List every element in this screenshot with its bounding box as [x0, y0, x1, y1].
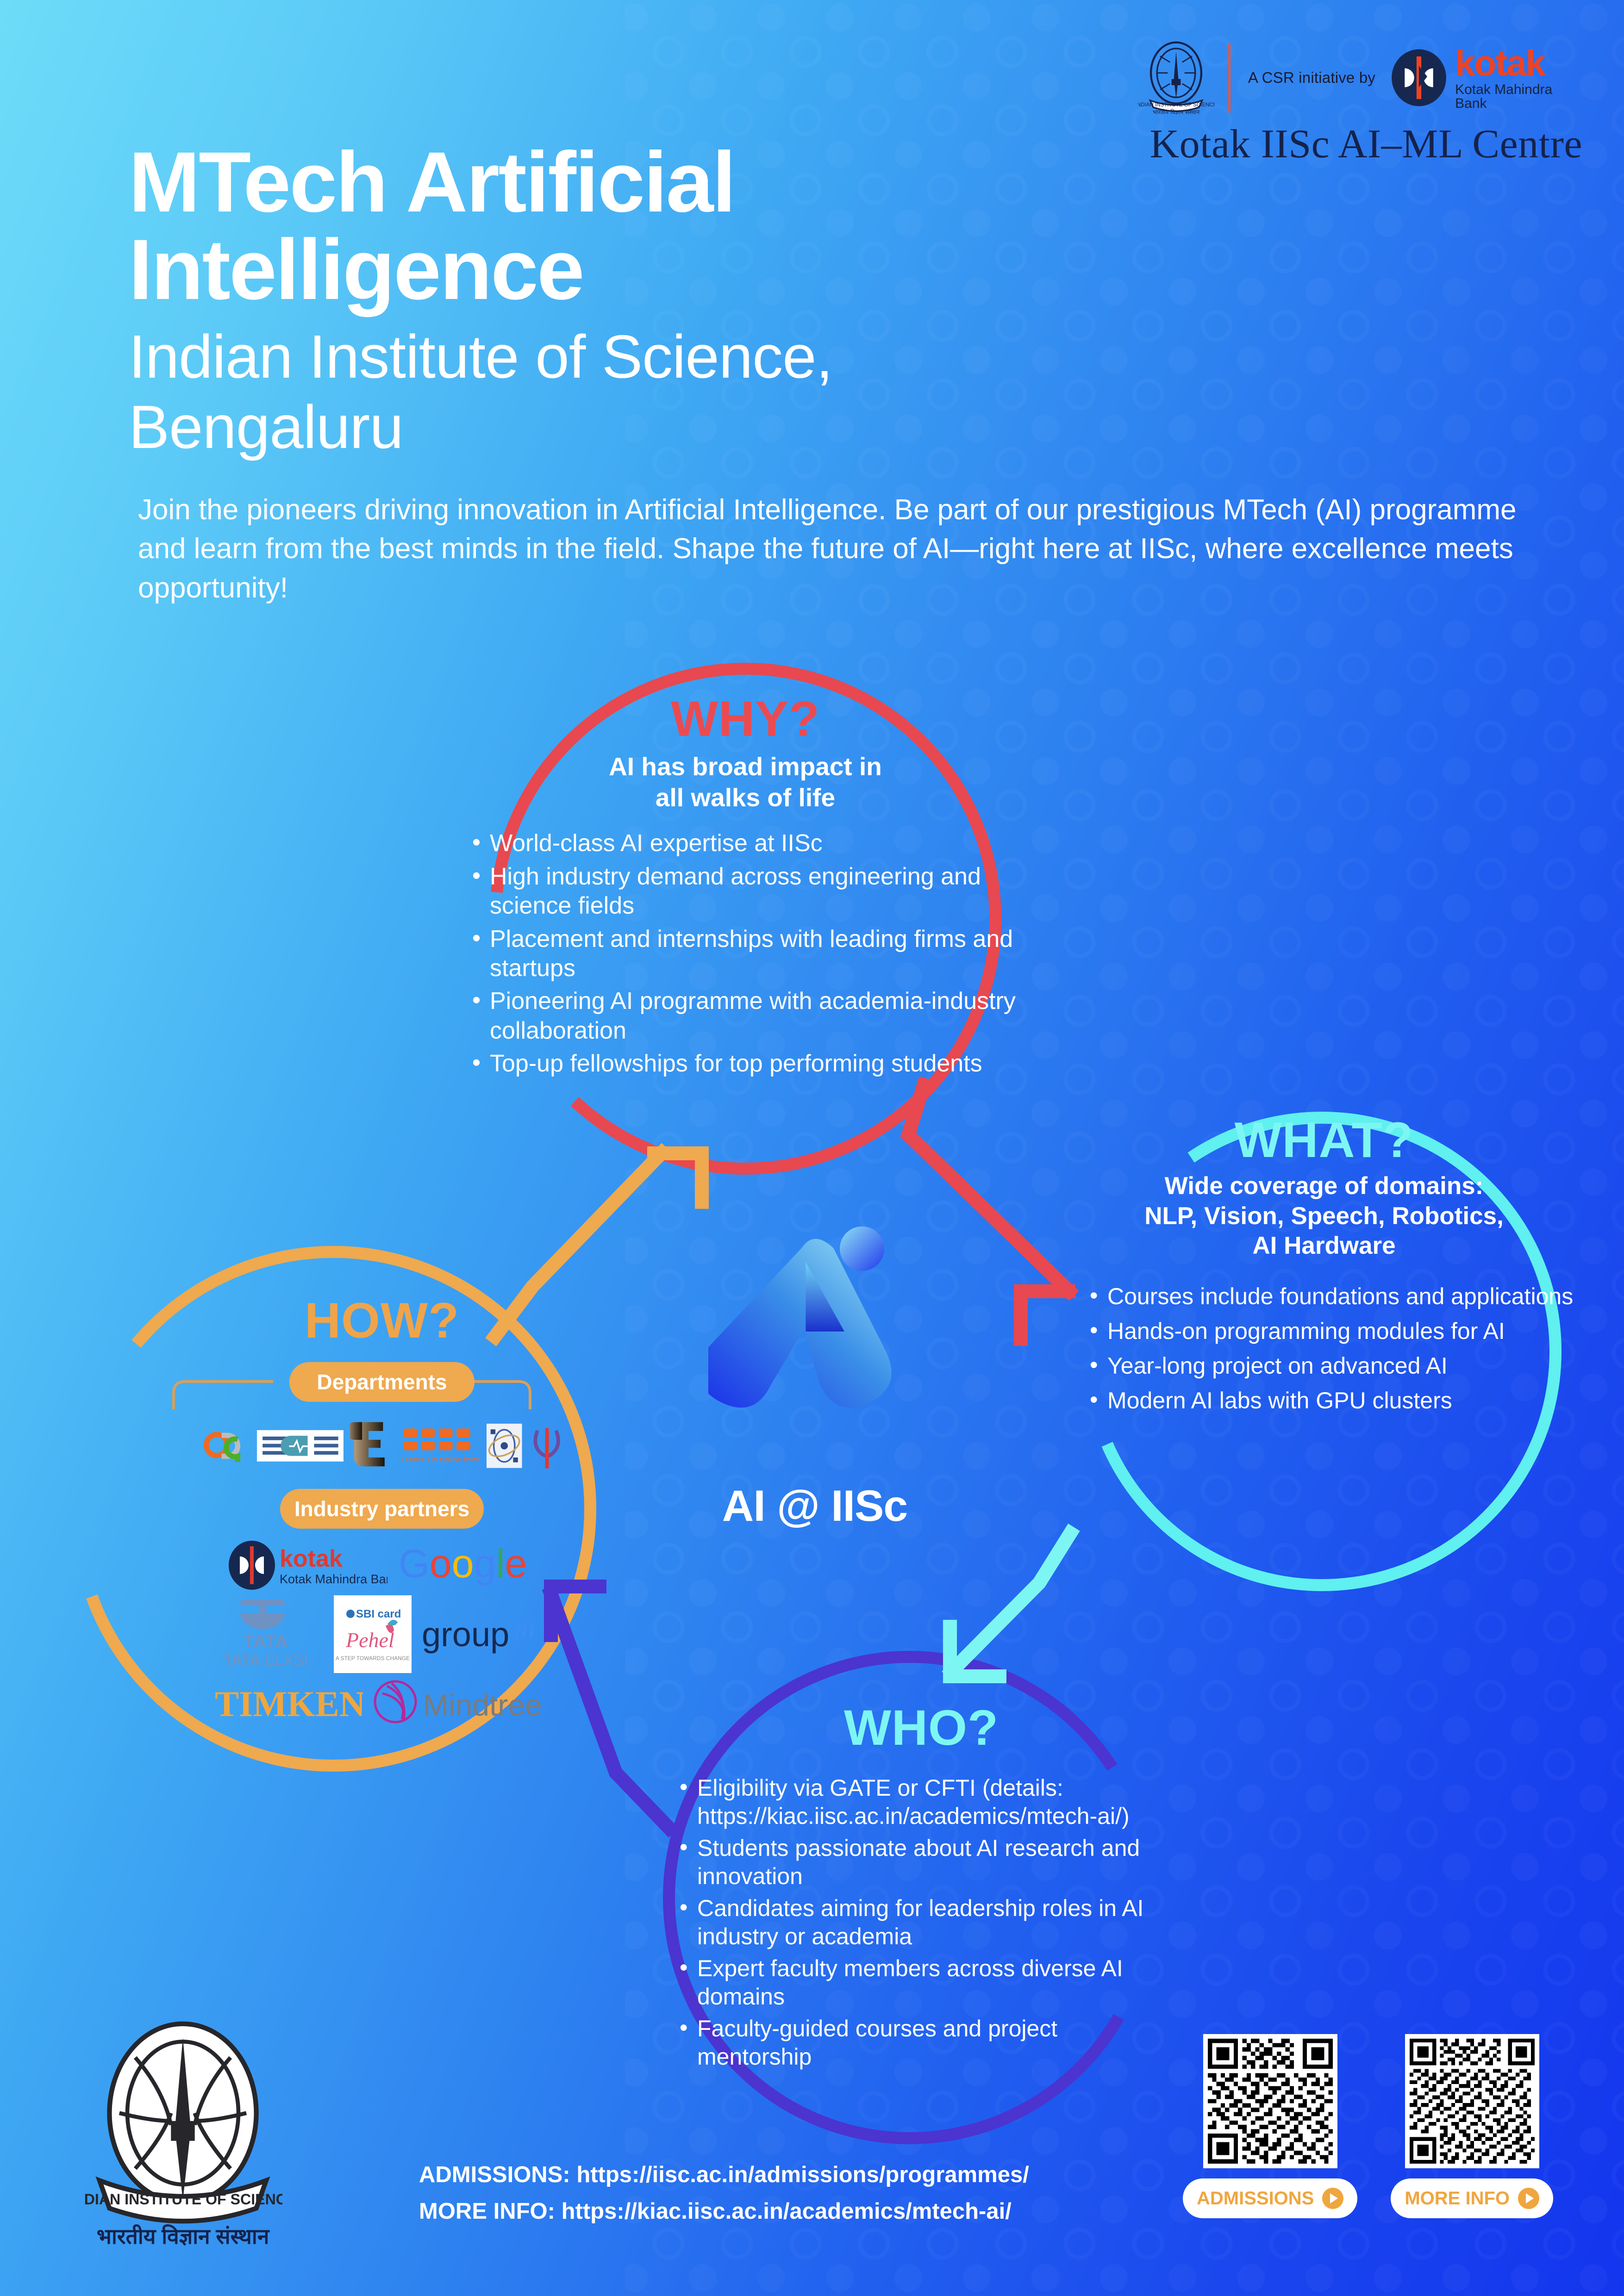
svg-text:A STEP TOWARDS CHANGE: A STEP TOWARDS CHANGE [336, 1655, 410, 1661]
timken-partner-logo-icon: TIMKEN [215, 1683, 363, 1724]
svg-text:TATA ELXSI: TATA ELXSI [223, 1651, 308, 1668]
list-item: Top-up fellowships for top performing st… [468, 1049, 1037, 1078]
list-item: Hands-on programming modules for AI [1085, 1317, 1574, 1345]
svg-text:TATA: TATA [243, 1631, 288, 1652]
kotak-badge-icon [1389, 48, 1449, 107]
title-block: MTech Artificial Intelligence Indian Ins… [129, 139, 1101, 462]
qr-code-more-info[interactable] [1405, 2034, 1539, 2168]
list-item: Candidates aiming for leadership roles i… [675, 1894, 1176, 1951]
play-arrow-icon [1322, 2188, 1343, 2209]
admissions-qr-button[interactable]: ADMISSIONS [1183, 2178, 1357, 2218]
svg-text:group: group [422, 1615, 509, 1654]
qr-code-area: ADMISSIONS [1183, 2034, 1553, 2218]
cds-department-logo-icon [487, 1420, 522, 1471]
what-subtitle: Wide coverage of domains: NLP, Vision, S… [1074, 1171, 1574, 1261]
list-item: Faculty-guided courses and project mento… [675, 2015, 1176, 2071]
list-item: Expert faculty members across diverse AI… [675, 1954, 1176, 2011]
departments-pill: Departments [289, 1362, 475, 1402]
more-info-link[interactable]: MORE INFO: https://kiac.iisc.ac.in/acade… [419, 2193, 1029, 2230]
admissions-url: https://iisc.ac.in/admissions/programmes… [576, 2162, 1029, 2187]
csr-initiative-text: A CSR initiative by [1248, 69, 1375, 87]
why-subtitle: AI has broad impact in all walks of life [454, 751, 1037, 813]
ee-department-logo-icon [350, 1416, 395, 1476]
section-why: WHY? AI has broad impact in all walks of… [454, 690, 1037, 1083]
iisc-seal-hindi-text: भारतीय विज्ञान संस्थान [69, 2221, 296, 2250]
list-item: Year-long project on advanced AI [1085, 1352, 1574, 1380]
svg-text:Mindtree: Mindtree [423, 1688, 542, 1722]
more-info-qr-button[interactable]: MORE INFO [1391, 2178, 1553, 2218]
kotak-subtitle: Kotak Mahindra Bank [1455, 83, 1582, 111]
qr-more-info-svg [1410, 2039, 1535, 2164]
list-item: High industry demand across engineering … [468, 862, 1037, 921]
how-title: HOW? [199, 1291, 565, 1349]
footer-links: ADMISSIONS: https://iisc.ac.in/admission… [419, 2157, 1029, 2230]
more-info-label: MORE INFO: [419, 2199, 555, 2224]
qr-more-info-group: MORE INFO [1391, 2034, 1553, 2218]
svg-text:Kotak Mahindra Bank: Kotak Mahindra Bank [280, 1572, 387, 1586]
who-title: WHO? [667, 1699, 1176, 1756]
mindtree-partner-logo-icon: Mindtree [373, 1678, 549, 1729]
department-logo-row: INDIAN INSTITUTE OF SCIENCE, BANGALORE [199, 1416, 565, 1476]
page-title: MTech Artificial Intelligence [129, 139, 1101, 313]
why-bullet-list: World-class AI expertise at IIScHigh ind… [454, 829, 1037, 1079]
what-bullet-list: Courses include foundations and applicat… [1074, 1282, 1574, 1415]
arrow-what-to-who-head [950, 1620, 1006, 1676]
admissions-button-label: ADMISSIONS [1197, 2188, 1314, 2209]
svg-text:INDIAN INSTITUTE OF SCIENCE: INDIAN INSTITUTE OF SCIENCE [1138, 102, 1214, 108]
admissions-label: ADMISSIONS: [419, 2162, 570, 2187]
list-item: World-class AI expertise at IISc [468, 829, 1037, 858]
industry-partner-logo-row: kotak Kotak Mahindra Bank Google TATA TA… [183, 1540, 581, 1729]
physics-department-logo-icon [529, 1418, 565, 1474]
what-title: WHAT? [1074, 1111, 1574, 1169]
play-arrow-icon-2 [1518, 2188, 1539, 2209]
qr-code-admissions[interactable] [1203, 2034, 1337, 2168]
title-line-2: Intelligence [129, 222, 583, 317]
industry-partners-pill: Industry partners [280, 1489, 484, 1529]
intro-paragraph: Join the pioneers driving innovation in … [138, 491, 1522, 608]
arrow-why-to-what-head [1021, 1291, 1075, 1346]
admissions-link[interactable]: ADMISSIONS: https://iisc.ac.in/admission… [419, 2157, 1029, 2193]
svg-text:SBI card: SBI card [356, 1608, 401, 1620]
list-item: Placement and internships with leading f… [468, 925, 1037, 983]
svg-text:TIMKEN: TIMKEN [215, 1684, 363, 1724]
centre-name: Kotak IISc AI–ML Centre [1138, 121, 1582, 168]
svg-text:INDIAN INSTITUTE OF SCIENCE, B: INDIAN INSTITUTE OF SCIENCE, BANGALORE [402, 1457, 481, 1462]
svg-text:INDIAN INSTITUTE OF SCIENCE: INDIAN INSTITUTE OF SCIENCE [83, 2191, 282, 2208]
svg-text:Pehel: Pehel [345, 1628, 394, 1652]
list-item: Modern AI labs with GPU clusters [1085, 1387, 1574, 1415]
header-logos: INDIAN INSTITUTE OF SCIENCE भारतीय विज्ञ… [1138, 37, 1582, 168]
why-title: WHY? [454, 690, 1037, 747]
svg-text:kotak: kotak [280, 1545, 343, 1572]
list-item: Students passionate about AI research an… [675, 1834, 1176, 1891]
list-item: Courses include foundations and applicat… [1085, 1282, 1574, 1311]
more-info-url: https://kiac.iisc.ac.in/academics/mtech-… [562, 2199, 1012, 2224]
title-line-1: MTech Artificial [129, 135, 735, 230]
kotak-partner-logo-icon: kotak Kotak Mahindra Bank [228, 1540, 387, 1591]
kotak-logo: kotak Kotak Mahindra Bank [1389, 45, 1582, 111]
iisc-seal-icon: INDIAN INSTITUTE OF SCIENCE भारतीय विज्ञ… [1138, 39, 1214, 116]
ece-department-logo-icon [257, 1428, 344, 1464]
header-divider [1228, 43, 1230, 112]
csa-department-logo-icon [199, 1425, 250, 1467]
qr-admissions-svg [1208, 2039, 1333, 2164]
arrow-how-to-why-head [647, 1153, 702, 1209]
tata-elxsi-partner-logo-icon: TATA TATA ELXSI [208, 1599, 324, 1669]
list-item: Eligibility via GATE or CFTI (details: h… [675, 1774, 1176, 1830]
groupm-partner-logo-icon: group m [422, 1610, 556, 1659]
kotak-wordmark: kotak [1455, 45, 1582, 81]
svg-text:Google: Google [399, 1542, 527, 1586]
sbi-card-pehel-partner-logo-icon: SBI card Pehel A STEP TOWARDS CHANGE [334, 1595, 412, 1673]
ai-at-iisc-logo-icon [708, 1213, 912, 1472]
institute-name: Indian Institute of Science, Bengaluru [129, 322, 1101, 462]
who-bullet-list: Eligibility via GATE or CFTI (details: h… [667, 1774, 1176, 2071]
section-who: WHO? Eligibility via GATE or CFTI (detai… [667, 1699, 1176, 2075]
arrow-what-to-who [947, 1527, 1074, 1676]
section-what: WHAT? Wide coverage of domains: NLP, Vis… [1074, 1111, 1574, 1421]
svg-text:भारतीय विज्ञान संस्थान: भारतीय विज्ञान संस्थान [1153, 109, 1200, 116]
more-info-button-label: MORE INFO [1405, 2188, 1510, 2209]
list-item: Pioneering AI programme with academia-in… [468, 987, 1037, 1045]
google-partner-logo-icon: Google [398, 1542, 537, 1588]
svg-text:m: m [514, 1613, 535, 1644]
iisc-seal-footer-icon: INDIAN INSTITUTE OF SCIENCE [83, 2018, 282, 2240]
section-how: HOW? Departments [199, 1291, 565, 1729]
qr-admissions-group: ADMISSIONS [1183, 2034, 1357, 2218]
center-logo-caption: AI @ IISc [685, 1481, 944, 1531]
dese-department-logo-icon: INDIAN INSTITUTE OF SCIENCE, BANGALORE [402, 1420, 481, 1471]
arrow-why-to-what [908, 1078, 1074, 1296]
